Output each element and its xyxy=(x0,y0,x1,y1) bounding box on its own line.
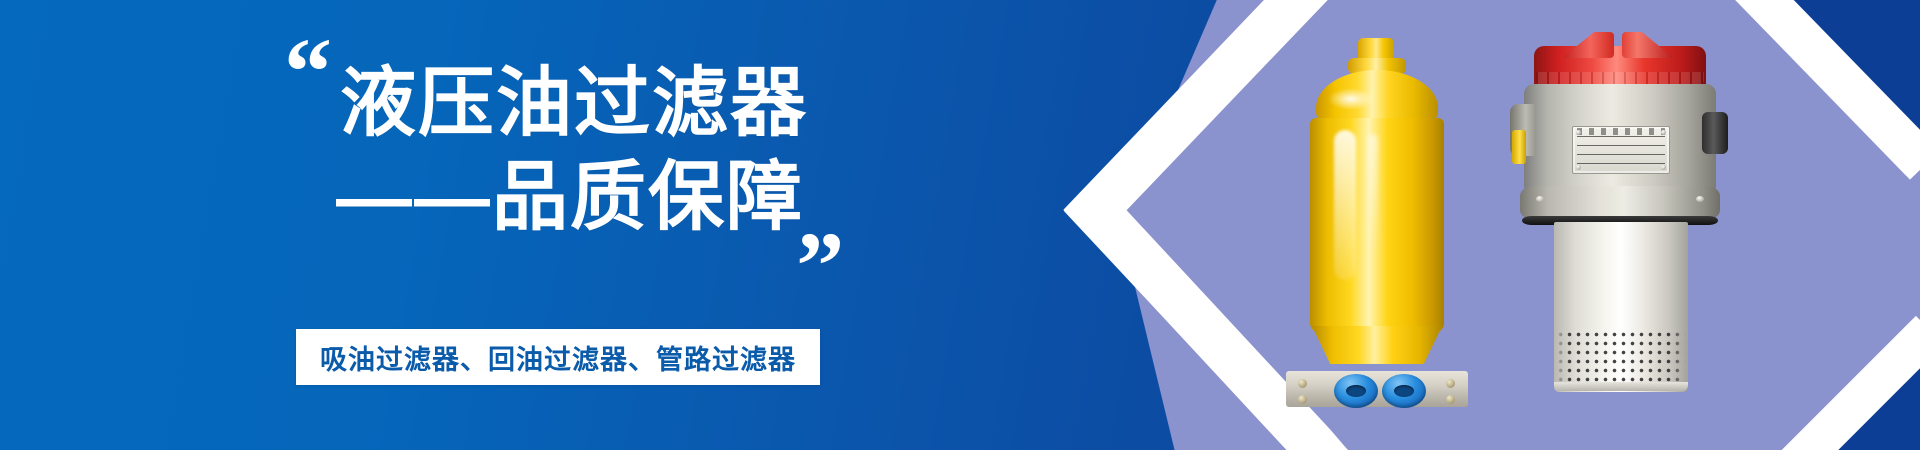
headline-block: “ 液压油过滤器 ——品质保障 „ 吸油过滤器、回油过滤器、管路过滤器 xyxy=(284,18,924,438)
spec-nameplate xyxy=(1572,126,1670,174)
filter-outlet-port xyxy=(1382,374,1426,408)
base-bolt xyxy=(1298,395,1307,404)
nameplate-rows xyxy=(1577,136,1665,169)
quote-open-icon: “ xyxy=(284,24,326,120)
filter-highlight xyxy=(1334,130,1356,280)
subtitle-text: 吸油过滤器、回油过滤器、管路过滤器 xyxy=(320,338,796,377)
mounting-flange xyxy=(1520,186,1720,220)
filter-inlet-port xyxy=(1334,374,1378,408)
nameplate-screw xyxy=(1661,165,1666,170)
product-pressure-line-filter xyxy=(1282,38,1472,388)
base-bolt xyxy=(1446,395,1455,404)
filter-specular xyxy=(1328,88,1374,110)
quote-close-icon: „ xyxy=(797,168,839,264)
subtitle-banner-box: 吸油过滤器、回油过滤器、管路过滤器 xyxy=(296,329,820,385)
base-bolt xyxy=(1298,379,1307,388)
flange-bolt-hole xyxy=(1696,196,1704,202)
flange-bolt-hole xyxy=(1536,196,1544,202)
headline-title-line-1: 液压油过滤器 xyxy=(340,66,808,142)
headline-title-line-2: ——品质保障 xyxy=(336,160,804,236)
base-bolt xyxy=(1446,379,1455,388)
strainer-perforations xyxy=(1556,330,1686,388)
nameplate-screw xyxy=(1576,165,1581,170)
nameplate-screw xyxy=(1661,130,1666,135)
product-tank-return-filter xyxy=(1510,30,1730,390)
promo-banner: “ 液压油过滤器 ——品质保障 „ 吸油过滤器、回油过滤器、管路过滤器 xyxy=(0,0,1920,450)
nameplate-screw xyxy=(1576,130,1581,135)
filter-highlight-2 xyxy=(1368,134,1378,254)
nameplate-header-row xyxy=(1577,128,1665,135)
cap-fin-right xyxy=(1622,32,1674,58)
housing-black-knob xyxy=(1702,112,1728,154)
housing-yellow-tab xyxy=(1512,130,1526,164)
cap-fin-left xyxy=(1562,32,1614,58)
strainer-bottom-rim xyxy=(1554,382,1688,391)
